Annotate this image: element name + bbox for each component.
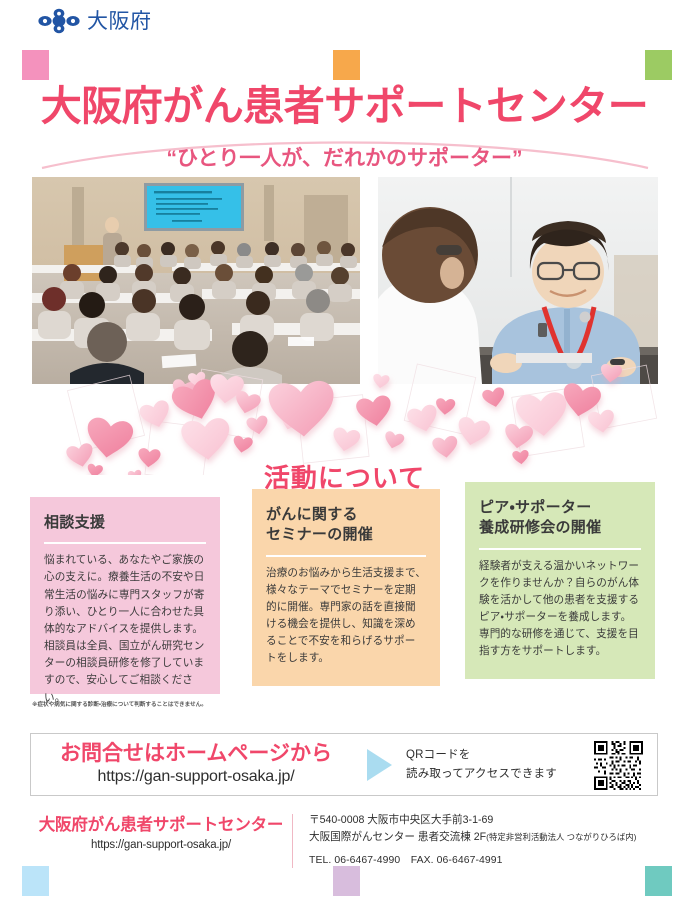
- footer: 大阪府がん患者サポートセンター https://gan-support-osak…: [30, 812, 658, 870]
- qr-code[interactable]: [594, 741, 643, 790]
- activity-card-body: 治療のお悩みから生活支援まで、様々なテーマでセミナーを定期的に開催。専門家の話を…: [266, 565, 426, 668]
- contact-box: お問合せはホームページから https://gan-support-osaka.…: [30, 733, 658, 796]
- decor-square-lavender: [333, 866, 360, 896]
- card-divider: [479, 548, 641, 550]
- footer-org-name: 大阪府がん患者サポートセンター: [30, 815, 292, 836]
- blue-triangle-arrow-icon: [367, 749, 392, 781]
- footer-org-url[interactable]: https://gan-support-osaka.jp/: [30, 839, 292, 851]
- contact-website-block: お問合せはホームページから https://gan-support-osaka.…: [31, 742, 361, 788]
- qr-instruction-label: QRコードを 読み取ってアクセスできます: [406, 746, 557, 783]
- activities-disclaimer-note: ※症状や病気に関する診断・治療について判断することはできません。: [32, 701, 232, 710]
- page-subtitle: “ひとり一人が、だれかのサポーター”: [0, 142, 689, 172]
- footer-address-block: 〒540-0008 大阪市中央区大手前3-1-69 大阪国際がんセンター 患者交…: [309, 812, 636, 870]
- footer-divider: [292, 814, 293, 868]
- decor-square-green: [645, 50, 672, 80]
- photo-consultation-counselor: [378, 177, 658, 384]
- activity-card-title: ピア・サポーター 養成研修会の開催: [479, 498, 641, 539]
- osaka-prefecture-logo-icon: [38, 8, 80, 34]
- contact-heading: お問合せはホームページから: [31, 742, 361, 766]
- card-divider: [266, 555, 426, 557]
- activity-card-body: 悩まれている、あなたやご家族の心の支えに。療養生活の不安や日常生活の悩みに専門ス…: [44, 552, 206, 706]
- activity-card-title: 相談支援: [44, 513, 206, 533]
- card-divider: [44, 542, 206, 544]
- footer-postal-address: 〒540-0008 大阪市中央区大手前3-1-69: [309, 812, 636, 829]
- decor-square-lightblue: [22, 866, 49, 896]
- poster-root: 大阪府 大阪府がん患者サポートセンター “ひとり一人が、だれかのサポーター”: [0, 0, 689, 907]
- decor-square-teal: [645, 866, 672, 896]
- activity-card-peer-supporter: ピア・サポーター 養成研修会の開催 経験者が支える温かいネットワークを作りません…: [465, 482, 655, 679]
- footer-building-paren: (特定非営利活動法人 つながりひろば内): [486, 832, 636, 842]
- contact-website-url[interactable]: https://gan-support-osaka.jp/: [31, 766, 361, 788]
- prefecture-branding: 大阪府: [38, 8, 152, 34]
- footer-building-main: 大阪国際がんセンター 患者交流棟 2F: [309, 831, 486, 843]
- footer-building-line: 大阪国際がんセンター 患者交流棟 2F(特定非営利活動法人 つながりひろば内): [309, 829, 636, 846]
- activity-card-title: がんに関する セミナーの開催: [266, 505, 426, 546]
- prefecture-label: 大阪府: [87, 11, 152, 32]
- activity-card-consultation: 相談支援 悩まれている、あなたやご家族の心の支えに。療養生活の不安や日常生活の悩…: [30, 497, 220, 694]
- activity-card-seminar: がんに関する セミナーの開催 治療のお悩みから生活支援まで、様々なテーマでセミナ…: [252, 489, 440, 686]
- page-title: 大阪府がん患者サポートセンター: [0, 84, 689, 129]
- decor-square-orange: [333, 50, 360, 80]
- footer-org-block: 大阪府がん患者サポートセンター https://gan-support-osak…: [30, 812, 292, 851]
- decor-square-pink: [22, 50, 49, 80]
- photo-seminar-lecture-room: [32, 177, 360, 384]
- activity-card-body: 経験者が支える温かいネットワークを作りませんか？自らのがん体験を活かして他の患者…: [479, 558, 641, 661]
